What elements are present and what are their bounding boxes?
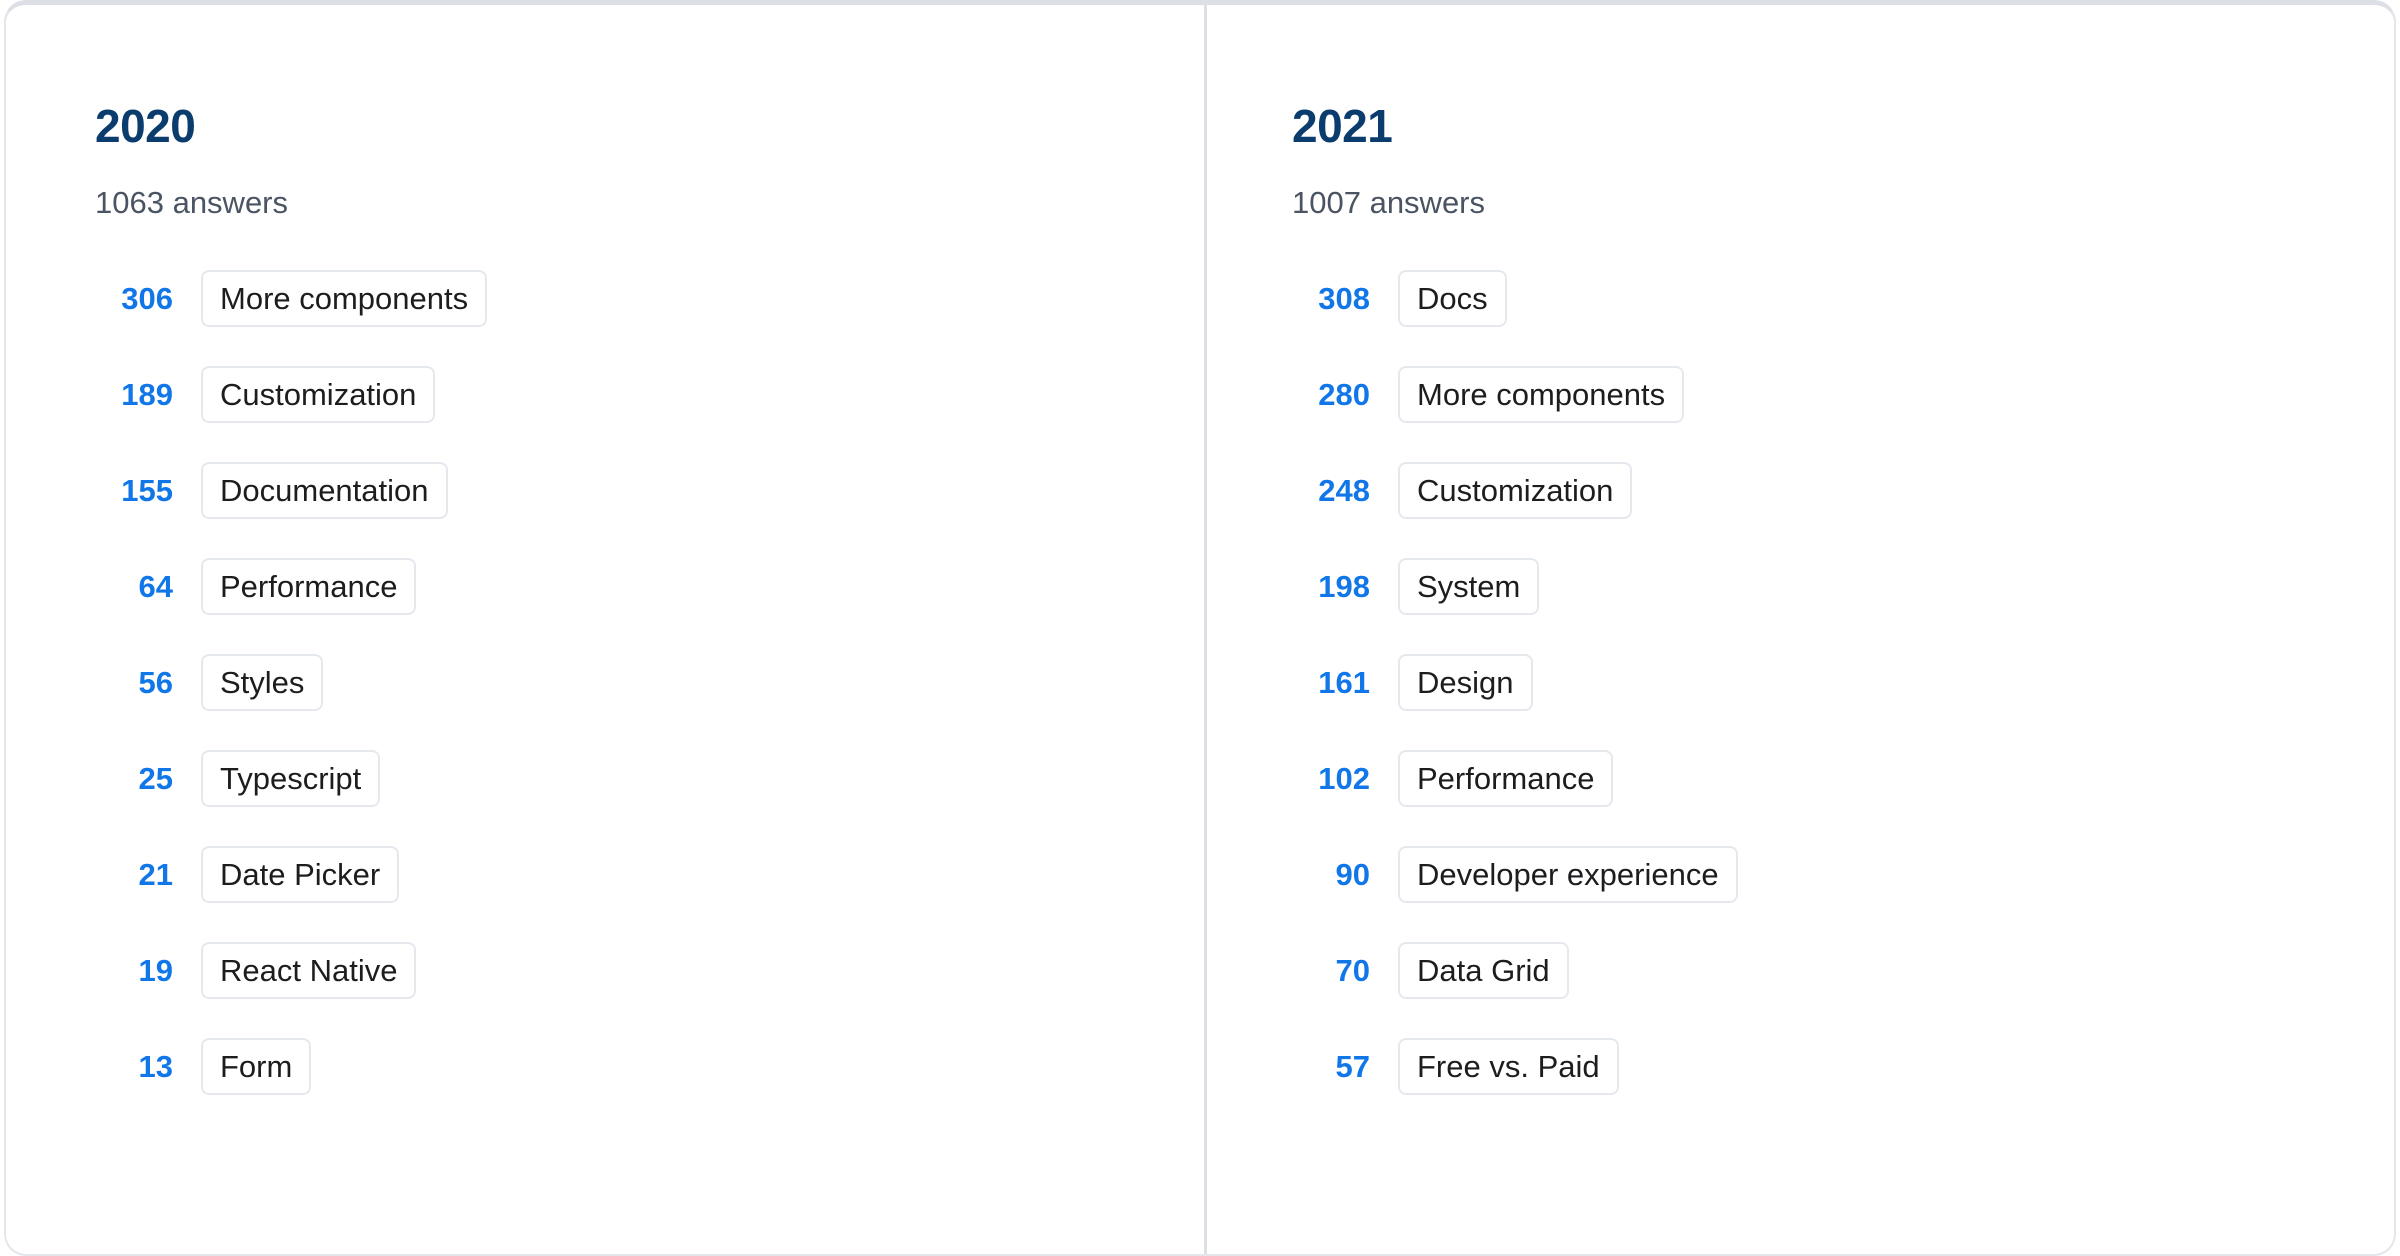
item-count: 306 — [95, 283, 173, 314]
item-label-chip[interactable]: React Native — [201, 942, 416, 999]
item-label-chip[interactable]: Date Picker — [201, 846, 399, 903]
item-count: 280 — [1292, 379, 1370, 410]
item-label-chip[interactable]: Docs — [1398, 270, 1507, 327]
list-item[interactable]: 57 Free vs. Paid — [1292, 1038, 2394, 1095]
list-item[interactable]: 161 Design — [1292, 654, 2394, 711]
item-count: 13 — [95, 1051, 173, 1082]
item-label-chip[interactable]: More components — [1398, 366, 1684, 423]
item-count: 21 — [95, 859, 173, 890]
list-item[interactable]: 248 Customization — [1292, 462, 2394, 519]
list-item[interactable]: 280 More components — [1292, 366, 2394, 423]
item-label-chip[interactable]: Form — [201, 1038, 311, 1095]
list-item[interactable]: 90 Developer experience — [1292, 846, 2394, 903]
list-item[interactable]: 189 Customization — [95, 366, 1204, 423]
year-title-2021: 2021 — [1292, 103, 2394, 149]
list-item[interactable]: 155 Documentation — [95, 462, 1204, 519]
year-columns: 2020 1063 answers 306 More components 18… — [6, 5, 2394, 1254]
list-item[interactable]: 308 Docs — [1292, 270, 2394, 327]
list-item[interactable]: 19 React Native — [95, 942, 1204, 999]
item-label-chip[interactable]: Documentation — [201, 462, 448, 519]
item-count: 56 — [95, 667, 173, 698]
item-count: 102 — [1292, 763, 1370, 794]
item-count: 308 — [1292, 283, 1370, 314]
item-label-chip[interactable]: Data Grid — [1398, 942, 1569, 999]
item-count: 25 — [95, 763, 173, 794]
year-column-2021: 2021 1007 answers 308 Docs 280 More comp… — [1204, 5, 2394, 1254]
item-count: 19 — [95, 955, 173, 986]
item-label-chip[interactable]: Performance — [1398, 750, 1613, 807]
item-count: 57 — [1292, 1051, 1370, 1082]
item-count: 64 — [95, 571, 173, 602]
item-label-chip[interactable]: Free vs. Paid — [1398, 1038, 1619, 1095]
item-label-chip[interactable]: Customization — [201, 366, 435, 423]
year-column-2020: 2020 1063 answers 306 More components 18… — [6, 5, 1204, 1254]
item-label-chip[interactable]: System — [1398, 558, 1539, 615]
keyword-list-2021: 308 Docs 280 More components 248 Customi… — [1292, 270, 2394, 1095]
item-label-chip[interactable]: Typescript — [201, 750, 380, 807]
item-count: 70 — [1292, 955, 1370, 986]
item-count: 189 — [95, 379, 173, 410]
item-label-chip[interactable]: More components — [201, 270, 487, 327]
item-count: 155 — [95, 475, 173, 506]
item-label-chip[interactable]: Styles — [201, 654, 323, 711]
keyword-list-2020: 306 More components 189 Customization 15… — [95, 270, 1204, 1095]
answers-count-2020: 1063 answers — [95, 187, 1204, 218]
item-count: 90 — [1292, 859, 1370, 890]
list-item[interactable]: 70 Data Grid — [1292, 942, 2394, 999]
item-count: 248 — [1292, 475, 1370, 506]
list-item[interactable]: 64 Performance — [95, 558, 1204, 615]
list-item[interactable]: 198 System — [1292, 558, 2394, 615]
list-item[interactable]: 13 Form — [95, 1038, 1204, 1095]
item-label-chip[interactable]: Developer experience — [1398, 846, 1738, 903]
item-count: 198 — [1292, 571, 1370, 602]
item-label-chip[interactable]: Design — [1398, 654, 1533, 711]
list-item[interactable]: 21 Date Picker — [95, 846, 1204, 903]
list-item[interactable]: 102 Performance — [1292, 750, 2394, 807]
comparison-card: 2020 1063 answers 306 More components 18… — [4, 0, 2396, 1256]
item-label-chip[interactable]: Performance — [201, 558, 416, 615]
answers-count-2021: 1007 answers — [1292, 187, 2394, 218]
item-label-chip[interactable]: Customization — [1398, 462, 1632, 519]
item-count: 161 — [1292, 667, 1370, 698]
list-item[interactable]: 306 More components — [95, 270, 1204, 327]
year-title-2020: 2020 — [95, 103, 1204, 149]
list-item[interactable]: 56 Styles — [95, 654, 1204, 711]
list-item[interactable]: 25 Typescript — [95, 750, 1204, 807]
